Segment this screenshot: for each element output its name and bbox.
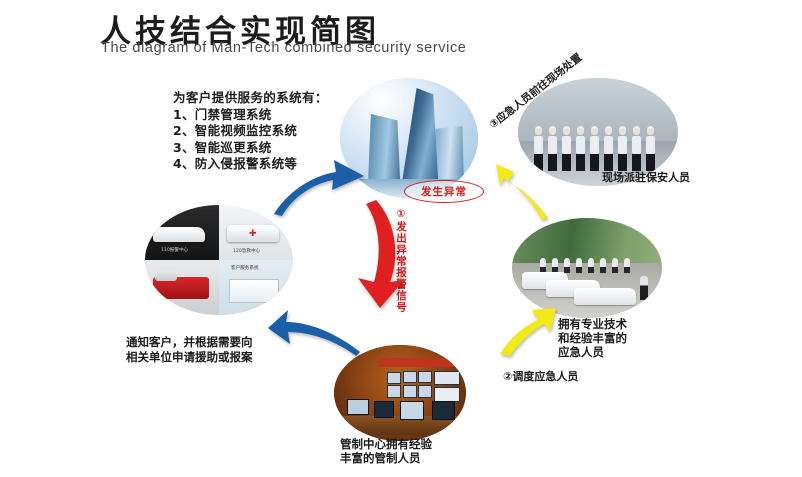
caption-control-room: 管制中心拥有经验 丰富的管制人员 [340, 437, 432, 465]
collage-caption-ambulance: 120急救中心 [233, 248, 260, 254]
caption-responders-line1: 拥有专业技术 [558, 317, 627, 331]
caption-notify-client: 通知客户，并根据需要向 相关单位申请援助或报案 [126, 335, 253, 365]
service-list-item: 1、门禁管理系统 [173, 107, 328, 124]
collage-caption-police: 110报警中心 [161, 247, 188, 253]
caption-responders: 拥有专业技术 和经验丰富的 应急人员 [558, 317, 627, 359]
diagram-canvas: 人技结合实现简图 The diagram of Man-Tech combine… [0, 0, 802, 477]
control-room-photo [334, 345, 466, 441]
collage-caption-shelter: 客户服务系统 [231, 265, 259, 271]
caption-control-line2: 丰富的管制人员 [340, 451, 432, 465]
step-2-label: ②调度应急人员 [503, 368, 578, 384]
caption-responders-line3: 应急人员 [558, 345, 627, 359]
alarm-badge: 发生异常 [404, 180, 484, 203]
arrow-yellow-up-right-icon [498, 296, 560, 358]
service-list-heading: 为客户提供服务的系统有： [173, 90, 328, 107]
service-list-item: 2、智能视频监控系统 [173, 123, 328, 140]
caption-responders-line2: 和经验丰富的 [558, 331, 627, 345]
arrow-blue-left-icon [268, 298, 364, 358]
caption-control-line1: 管制中心拥有经验 [340, 437, 432, 451]
page-subtitle: The diagram of Man-Tech combined securit… [101, 40, 466, 56]
caption-notify-line1: 通知客户，并根据需要向 [126, 335, 253, 350]
caption-notify-line2: 相关单位申请援助或报案 [126, 350, 253, 365]
caption-guards: 现场派驻保安人员 [602, 170, 690, 185]
arrow-yellow-up-icon [496, 150, 558, 222]
arrow-red-down-icon [346, 196, 416, 312]
